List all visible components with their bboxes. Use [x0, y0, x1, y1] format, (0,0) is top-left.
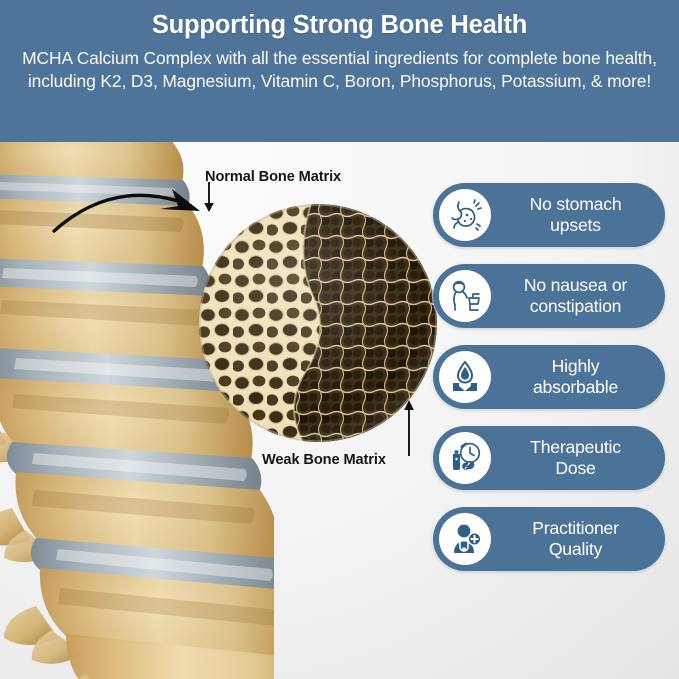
page-title: Supporting Strong Bone Health [12, 10, 667, 42]
badge-line1: Therapeutic [530, 437, 621, 457]
badge-line2: upsets [494, 215, 657, 236]
doctor-plus-icon [439, 513, 491, 565]
badge-label: Therapeutic Dose [494, 437, 665, 479]
badge-therapeutic-dose[interactable]: Therapeutic Dose [433, 426, 665, 490]
product-infographic: Normal Bone Matrix Weak Bone Matrix [0, 0, 679, 679]
badge-line2: Quality [494, 539, 657, 560]
weak-bone-matrix-label: Weak Bone Matrix [262, 452, 386, 468]
badge-line1: No nausea or [524, 275, 627, 295]
benefit-badge-list: No stomach upsets [433, 183, 665, 571]
badge-line2: constipation [494, 296, 657, 317]
badge-line1: No stomach [530, 194, 622, 214]
nausea-toilet-icon [439, 270, 491, 322]
normal-bone-matrix-label: Normal Bone Matrix [205, 169, 341, 185]
absorption-droplet-icon [439, 351, 491, 403]
header-banner: Supporting Strong Bone Health MCHA Calci… [0, 0, 679, 142]
curved-arrow-icon [48, 175, 208, 245]
stomach-upset-icon [439, 189, 491, 241]
badge-line1: Highly [552, 356, 600, 376]
badge-line2: Dose [494, 458, 657, 479]
arrow-up-icon [396, 400, 422, 456]
badge-line2: absorbable [494, 377, 657, 398]
clock-pills-icon [439, 432, 491, 484]
header-subtitle: MCHA Calcium Complex with all the essent… [12, 47, 667, 93]
badge-no-stomach-upsets[interactable]: No stomach upsets [433, 183, 665, 247]
badge-practitioner-quality[interactable]: Practitioner Quality [433, 507, 665, 571]
badge-highly-absorbable[interactable]: Highly absorbable [433, 345, 665, 409]
badge-label: No nausea or constipation [494, 275, 665, 317]
arrow-down-icon [196, 182, 222, 212]
badge-label: Practitioner Quality [494, 518, 665, 560]
badge-label: No stomach upsets [494, 194, 665, 236]
badge-label: Highly absorbable [494, 356, 665, 398]
badge-line1: Practitioner [532, 518, 619, 538]
badge-no-nausea-or-constipation[interactable]: No nausea or constipation [433, 264, 665, 328]
